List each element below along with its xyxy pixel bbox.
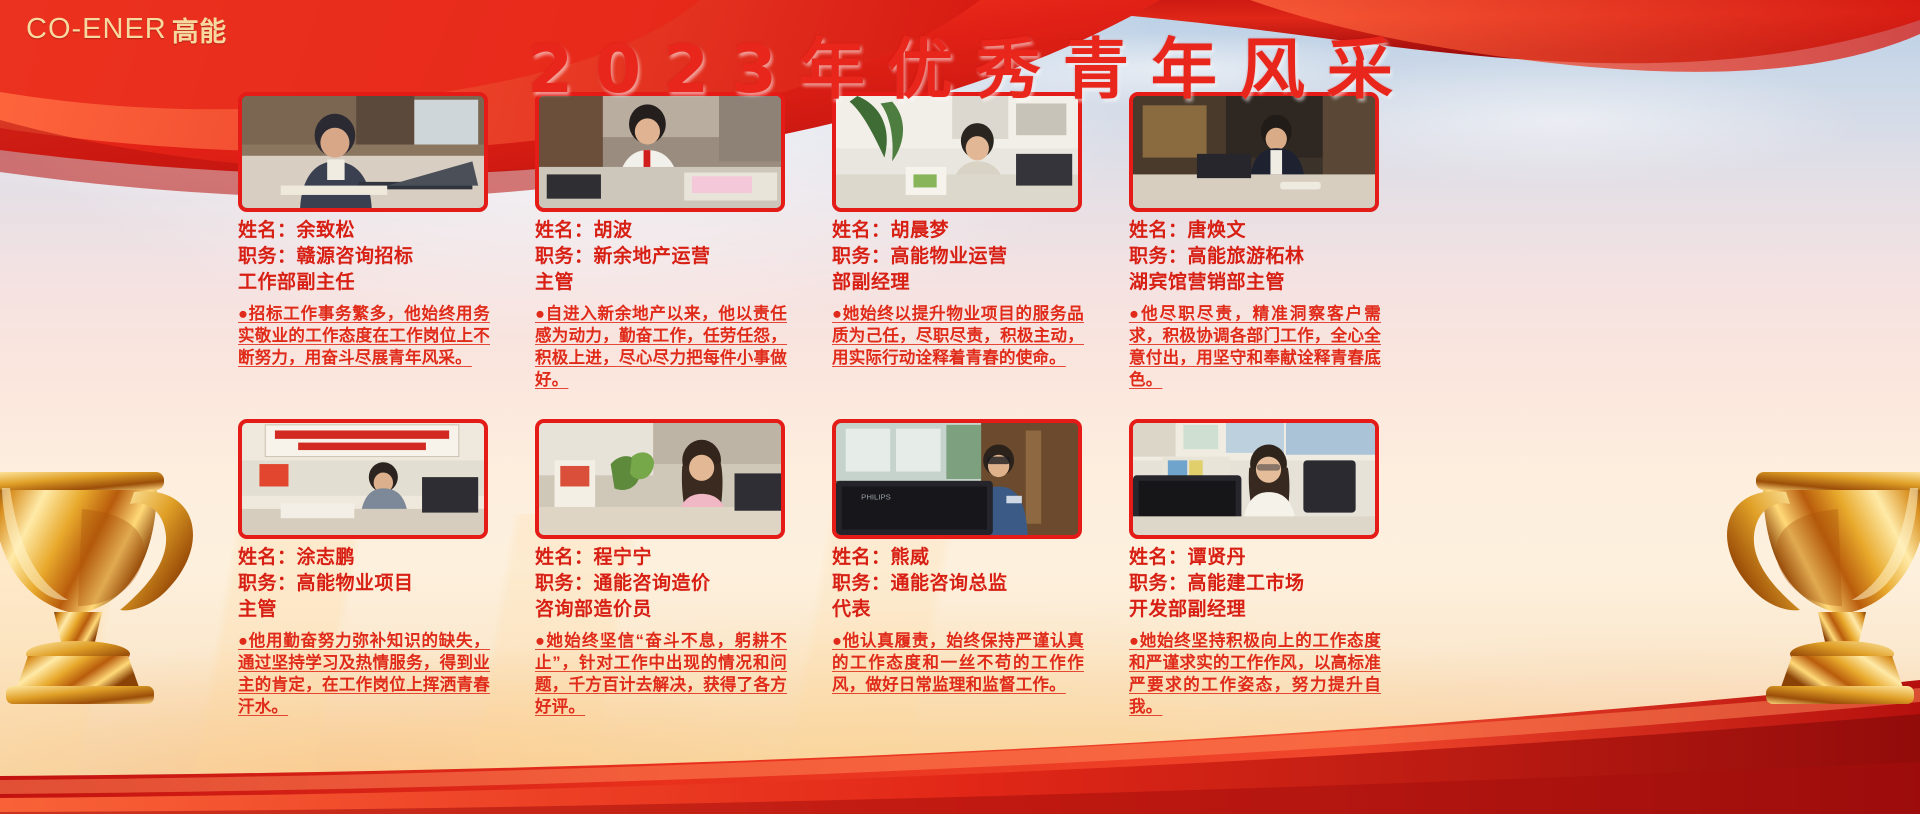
person-name-line: 姓名：唐焕文 — [1129, 218, 1379, 244]
person-description: ●她始终以提升物业项目的服务品质为己任，尽职尽责，积极主动，用实际行动诠释着青春… — [832, 303, 1084, 369]
name-label: 姓名： — [832, 547, 891, 568]
person-title-line-1: 职务：通能咨询造价 — [535, 571, 785, 597]
people-row-top: 姓名：余致松 职务：赣源咨询招标 工作部副主任 ●招标工作事务繁多，他始终用务实… — [0, 92, 1920, 391]
person-name-line: 姓名：谭贤丹 — [1129, 545, 1379, 571]
person-description: ●她始终坚信“奋斗不息，躬耕不止”，针对工作中出现的情况和问题，千方百计去解决，… — [535, 630, 787, 718]
person-card[interactable]: 姓名：涂志鹏 职务：高能物业项目 主管 ●他用勤奋努力弥补知识的缺失，通过坚持学… — [238, 419, 488, 718]
name-label: 姓名： — [535, 547, 594, 568]
person-name: 谭贤丹 — [1188, 547, 1247, 568]
person-photo — [238, 419, 488, 539]
person-meta: 姓名：胡波 职务：新余地产运营 主管 — [535, 218, 785, 296]
person-description: ●自进入新余地产以来，他以责任感为动力，勤奋工作，任劳任怨，积极上进，尽心尽力把… — [535, 303, 787, 391]
person-name: 熊威 — [891, 547, 930, 568]
title-label: 职务： — [238, 573, 297, 594]
person-title-a: 赣源咨询招标 — [297, 246, 414, 267]
person-title-line-1: 职务：通能咨询总监 — [832, 571, 1082, 597]
title-label: 职务： — [1129, 573, 1188, 594]
person-meta: 姓名：余致松 职务：赣源咨询招标 工作部副主任 — [238, 218, 488, 296]
person-title-line-1: 职务：高能旅游柘林 — [1129, 244, 1379, 270]
logo-chinese-text: 高能 — [172, 10, 227, 49]
person-title-line-1: 职务：新余地产运营 — [535, 244, 785, 270]
title-label: 职务： — [238, 246, 297, 267]
person-description: ●他用勤奋努力弥补知识的缺失，通过坚持学习及热情服务，得到业主的肯定，在工作岗位… — [238, 630, 490, 718]
person-name: 胡晨梦 — [891, 220, 950, 241]
person-title-line-1: 职务：赣源咨询招标 — [238, 244, 488, 270]
page-title: 2023年优秀青年风采 — [0, 16, 1920, 112]
person-card[interactable]: 姓名：唐焕文 职务：高能旅游柘林 湖宾馆营销部主管 ●他尽职尽责，精准洞察客户需… — [1129, 92, 1379, 391]
person-meta: 姓名：熊威 职务：通能咨询总监 代表 — [832, 545, 1082, 623]
person-card[interactable]: 姓名：程宁宁 职务：通能咨询造价 咨询部造价员 ●她始终坚信“奋斗不息，躬耕不止… — [535, 419, 785, 718]
poster-canvas: CO-ENER 高能 2023年优秀青年风采 — [0, 0, 1920, 814]
person-title-line-2: 代表 — [832, 597, 1082, 623]
person-title-line-2: 主管 — [238, 597, 488, 623]
person-title-line-2: 工作部副主任 — [238, 270, 488, 296]
person-title-a: 高能物业运营 — [891, 246, 1008, 267]
person-title-a: 通能咨询总监 — [891, 573, 1008, 594]
people-grid: 姓名：余致松 职务：赣源咨询招标 工作部副主任 ●招标工作事务繁多，他始终用务实… — [0, 92, 1920, 718]
name-label: 姓名： — [238, 547, 297, 568]
person-description: ●她始终坚持积极向上的工作态度和严谨求实的工作作风，以高标准严要求的工作姿态，努… — [1129, 630, 1381, 718]
person-card[interactable]: 姓名：胡晨梦 职务：高能物业运营 部副经理 ●她始终以提升物业项目的服务品质为己… — [832, 92, 1082, 391]
person-title-a: 高能旅游柘林 — [1188, 246, 1305, 267]
people-row-bottom: 姓名：涂志鹏 职务：高能物业项目 主管 ●他用勤奋努力弥补知识的缺失，通过坚持学… — [0, 419, 1920, 718]
person-name: 涂志鹏 — [297, 547, 356, 568]
person-title-line-1: 职务：高能建工市场 — [1129, 571, 1379, 597]
person-meta: 姓名：程宁宁 职务：通能咨询造价 咨询部造价员 — [535, 545, 785, 623]
person-description: ●他尽职尽责，精准洞察客户需求，积极协调各部门工作，全心全意付出，用坚守和奉献诠… — [1129, 303, 1381, 391]
name-label: 姓名： — [832, 220, 891, 241]
person-title-line-2: 部副经理 — [832, 270, 1082, 296]
person-title-line-2: 开发部副经理 — [1129, 597, 1379, 623]
name-label: 姓名： — [1129, 220, 1188, 241]
person-meta: 姓名：谭贤丹 职务：高能建工市场 开发部副经理 — [1129, 545, 1379, 623]
name-label: 姓名： — [535, 220, 594, 241]
person-name-line: 姓名：胡波 — [535, 218, 785, 244]
svg-text:PHILIPS: PHILIPS — [861, 493, 891, 502]
logo-latin-text: CO-ENER — [26, 13, 167, 46]
person-photo — [1129, 419, 1379, 539]
person-name-line: 姓名：涂志鹏 — [238, 545, 488, 571]
person-title-a: 高能物业项目 — [297, 573, 414, 594]
person-name-line: 姓名：熊威 — [832, 545, 1082, 571]
person-description: ●他认真履责，始终保持严谨认真的工作态度和一丝不苟的工作作风，做好日常监理和监督… — [832, 630, 1084, 696]
person-card[interactable]: 姓名：胡波 职务：新余地产运营 主管 ●自进入新余地产以来，他以责任感为动力，勤… — [535, 92, 785, 391]
person-title-a: 通能咨询造价 — [594, 573, 711, 594]
person-meta: 姓名：胡晨梦 职务：高能物业运营 部副经理 — [832, 218, 1082, 296]
person-title-line-2: 主管 — [535, 270, 785, 296]
brand-logo: CO-ENER 高能 — [26, 10, 227, 49]
person-meta: 姓名：唐焕文 职务：高能旅游柘林 湖宾馆营销部主管 — [1129, 218, 1379, 296]
person-photo: PHILIPS — [832, 419, 1082, 539]
person-title-line-2: 湖宾馆营销部主管 — [1129, 270, 1379, 296]
title-label: 职务： — [1129, 246, 1188, 267]
person-title-line-1: 职务：高能物业运营 — [832, 244, 1082, 270]
person-name-line: 姓名：余致松 — [238, 218, 488, 244]
title-label: 职务： — [832, 573, 891, 594]
person-title-a: 新余地产运营 — [594, 246, 711, 267]
name-label: 姓名： — [1129, 547, 1188, 568]
person-name-line: 姓名：程宁宁 — [535, 545, 785, 571]
person-meta: 姓名：涂志鹏 职务：高能物业项目 主管 — [238, 545, 488, 623]
person-name: 唐焕文 — [1188, 220, 1247, 241]
person-name-line: 姓名：胡晨梦 — [832, 218, 1082, 244]
person-photo — [535, 419, 785, 539]
person-name: 余致松 — [297, 220, 356, 241]
person-title-a: 高能建工市场 — [1188, 573, 1305, 594]
name-label: 姓名： — [238, 220, 297, 241]
title-label: 职务： — [535, 246, 594, 267]
person-card[interactable]: 姓名：谭贤丹 职务：高能建工市场 开发部副经理 ●她始终坚持积极向上的工作态度和… — [1129, 419, 1379, 718]
person-name: 胡波 — [594, 220, 633, 241]
person-title-line-1: 职务：高能物业项目 — [238, 571, 488, 597]
person-title-line-2: 咨询部造价员 — [535, 597, 785, 623]
title-label: 职务： — [832, 246, 891, 267]
title-label: 职务： — [535, 573, 594, 594]
person-card[interactable]: 姓名：余致松 职务：赣源咨询招标 工作部副主任 ●招标工作事务繁多，他始终用务实… — [238, 92, 488, 391]
person-name: 程宁宁 — [594, 547, 653, 568]
person-card[interactable]: PHILIPS 姓名：熊威 职务：通能咨询总监 代表 ●他认真履责，始终保持严谨… — [832, 419, 1082, 718]
person-description: ●招标工作事务繁多，他始终用务实敬业的工作态度在工作岗位上不断努力，用奋斗尽展青… — [238, 303, 490, 369]
